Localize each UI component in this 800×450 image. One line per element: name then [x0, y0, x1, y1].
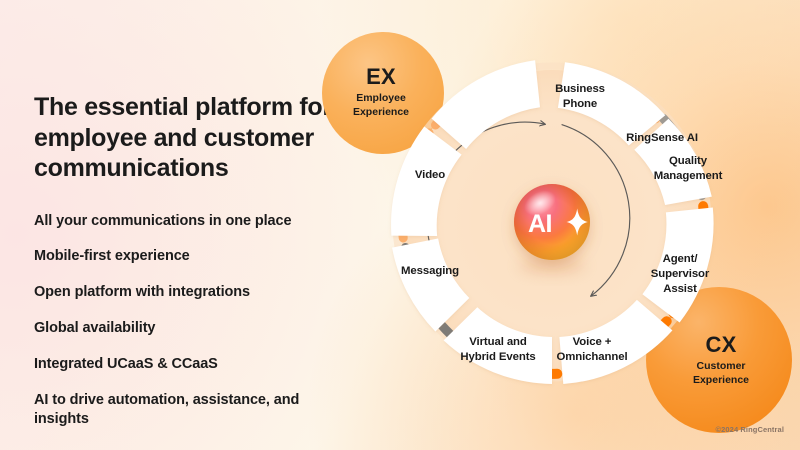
svg-text:Messaging: Messaging: [401, 265, 459, 277]
ai-orb[interactable]: AI: [514, 184, 590, 275]
svg-text:Video: Video: [415, 169, 445, 181]
list-item-1: Mobile-first experience: [34, 247, 334, 266]
list-item-3: Global availability: [34, 319, 334, 338]
svg-text:Employee: Employee: [356, 92, 406, 104]
svg-text:Assist: Assist: [663, 283, 697, 295]
segment-label-ringsense-ai: RingSense AI: [626, 132, 698, 144]
svg-text:Hybrid Events: Hybrid Events: [460, 351, 535, 363]
list-item-0: All your communications in one place: [34, 212, 334, 231]
svg-text:Supervisor: Supervisor: [651, 268, 710, 280]
svg-text:Customer: Customer: [696, 360, 745, 372]
svg-text:Agent/: Agent/: [663, 253, 699, 265]
segment-label-messaging: Messaging: [401, 265, 459, 277]
svg-text:Omnichannel: Omnichannel: [556, 351, 627, 363]
svg-text:Experience: Experience: [353, 106, 409, 118]
svg-text:Quality: Quality: [669, 155, 708, 167]
svg-text:RingSense AI: RingSense AI: [626, 132, 698, 144]
svg-text:Voice +: Voice +: [573, 336, 612, 348]
svg-text:Experience: Experience: [693, 374, 749, 386]
segment-label-video: Video: [415, 169, 445, 181]
orb-label: AI: [528, 210, 552, 238]
svg-text:Virtual and: Virtual and: [469, 336, 527, 348]
list-item-2: Open platform with integrations: [34, 283, 334, 302]
slide-canvas: The essential platform for employee and …: [0, 0, 800, 450]
list-item-5: AI to drive automation, assistance, and …: [34, 391, 334, 429]
svg-text:EX: EX: [366, 64, 396, 89]
svg-text:Management: Management: [654, 170, 723, 182]
svg-text:Phone: Phone: [563, 98, 597, 110]
platform-wheel-diagram: Business Phone RingSense AI Quality Mana…: [300, 0, 800, 450]
svg-text:CX: CX: [706, 332, 737, 357]
copyright-notice: ©2024 RingCentral: [716, 425, 785, 434]
svg-text:Business: Business: [555, 83, 605, 95]
list-item-4: Integrated UCaaS & CCaaS: [34, 355, 334, 374]
